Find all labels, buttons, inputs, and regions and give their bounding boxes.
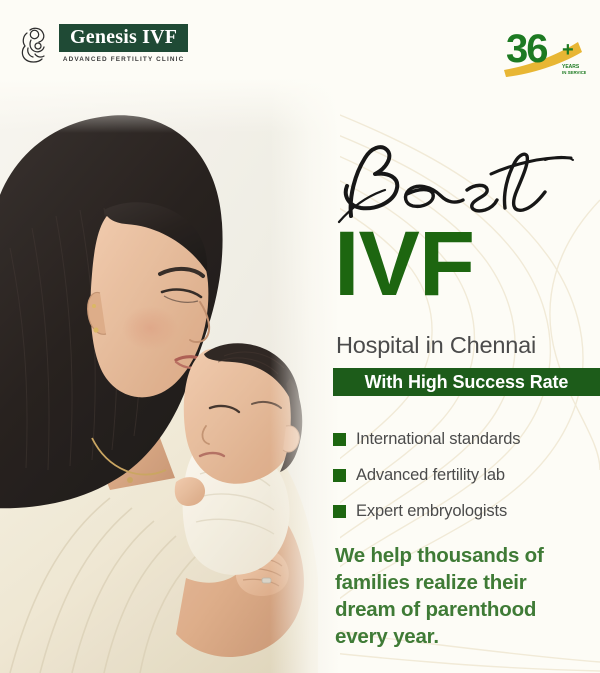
feature-list: International standards Advanced fertili… [333, 421, 600, 529]
closing-line-4: every year. [335, 623, 597, 650]
advertisement-poster: Genesis IVF ADVANCED FERTILITY CLINIC 36… [0, 0, 600, 673]
list-item: Expert embryologists [333, 493, 600, 529]
svg-text:36: 36 [506, 27, 547, 71]
logo-name: Genesis IVF [70, 26, 177, 48]
logo-tagline: ADVANCED FERTILITY CLINIC [63, 56, 185, 63]
mother-and-child-logo-icon [18, 24, 52, 64]
list-item: International standards [333, 421, 600, 457]
list-item: Advanced fertility lab [333, 457, 600, 493]
subheadline: Hospital in Chennai [336, 332, 536, 359]
banner-label: With High Success Rate [365, 372, 569, 393]
square-bullet-icon [333, 433, 346, 446]
logo-name-box: Genesis IVF [59, 24, 188, 52]
feature-label: Advanced fertility lab [356, 466, 505, 485]
feature-label: Expert embryologists [356, 502, 507, 521]
svg-text:+: + [562, 39, 574, 61]
square-bullet-icon [333, 505, 346, 518]
mother-holding-baby-photo [0, 78, 340, 673]
feature-label: International standards [356, 430, 520, 449]
success-rate-banner: With High Success Rate [333, 368, 600, 396]
square-bullet-icon [333, 469, 346, 482]
closing-line-1: We help thousands of [335, 542, 597, 569]
closing-line-3: dream of parenthood [335, 596, 597, 623]
years-experience-badge-icon: 36 + YEARS IN SERVICE [500, 22, 586, 80]
page-title: IVF [334, 222, 474, 307]
svg-text:IN SERVICE: IN SERVICE [562, 70, 586, 75]
closing-line-2: families realize their [335, 569, 597, 596]
brand-logo[interactable]: Genesis IVF ADVANCED FERTILITY CLINIC [18, 24, 188, 64]
closing-statement: We help thousands of families realize th… [335, 542, 597, 650]
content-column: IVF Hospital in Chennai With High Succes… [327, 0, 600, 673]
